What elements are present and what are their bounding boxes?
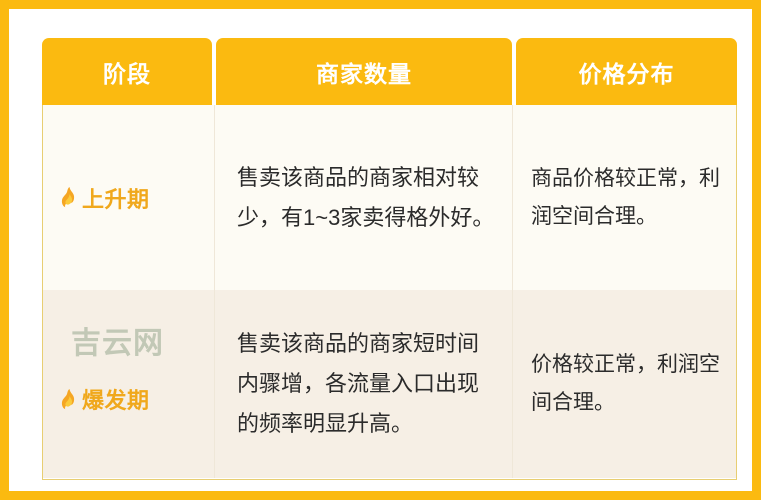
flame-icon [61, 187, 78, 208]
merchant-count-text: 售卖该商品的商家短时间内骤增，各流量入口出现的频率明显升高。 [237, 324, 500, 444]
flame-icon [61, 389, 78, 410]
stage-cell: 吉云网 爆发期 [43, 290, 214, 478]
column-header-stage: 阶段 [42, 38, 212, 105]
merchant-count-text: 售卖该商品的商家相对较少，有1~3家卖得格外好。 [237, 158, 500, 238]
stage-label: 上升期 [82, 182, 150, 214]
outer-frame: 阶段 商家数量 价格分布 上升期 [0, 0, 761, 500]
stage-label: 爆发期 [82, 383, 150, 415]
table-body: 上升期 售卖该商品的商家相对较少，有1~3家卖得格外好。 商品价格较正常，利润空… [42, 105, 737, 480]
table-row: 上升期 售卖该商品的商家相对较少，有1~3家卖得格外好。 商品价格较正常，利润空… [43, 105, 736, 290]
column-header-merchant-count-label: 商家数量 [316, 55, 412, 89]
price-distribution-cell: 价格较正常，利润空间合理。 [513, 290, 736, 478]
table-header-row: 阶段 商家数量 价格分布 [42, 38, 737, 105]
price-distribution-text: 商品价格较正常，利润空间合理。 [531, 160, 726, 236]
column-header-price-distribution-label: 价格分布 [579, 55, 675, 89]
watermark: 吉云网 [71, 318, 164, 362]
stage-badge: 上升期 [61, 182, 150, 214]
price-distribution-cell: 商品价格较正常，利润空间合理。 [513, 105, 736, 290]
column-header-merchant-count: 商家数量 [216, 38, 512, 105]
column-header-stage-label: 阶段 [103, 55, 151, 89]
merchant-count-cell: 售卖该商品的商家短时间内骤增，各流量入口出现的频率明显升高。 [214, 290, 513, 478]
merchant-count-cell: 售卖该商品的商家相对较少，有1~3家卖得格外好。 [214, 105, 513, 290]
stage-badge: 爆发期 [61, 383, 150, 415]
comparison-table: 阶段 商家数量 价格分布 上升期 [42, 38, 737, 480]
table-row: 吉云网 爆发期 售卖该商品的商家短时间内骤增，各流量入口出现的频率明显升高。 价… [43, 290, 736, 478]
price-distribution-text: 价格较正常，利润空间合理。 [531, 346, 726, 422]
column-header-price-distribution: 价格分布 [516, 38, 737, 105]
stage-cell: 上升期 [43, 105, 214, 290]
